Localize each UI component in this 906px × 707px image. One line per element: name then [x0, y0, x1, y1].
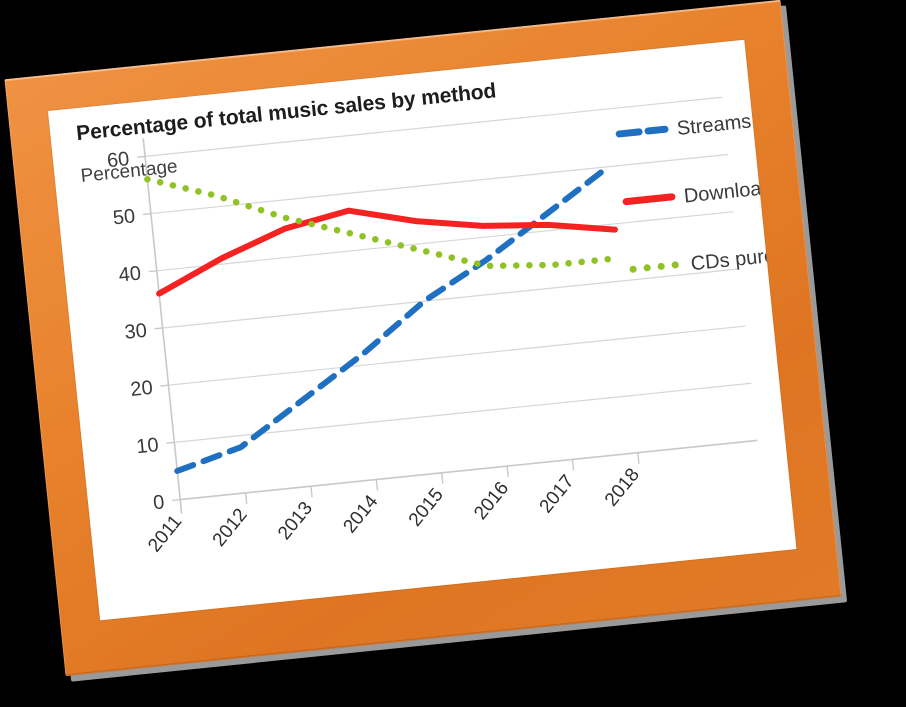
line-chart-svg: 0102030405060 20112012201320142015201620… [48, 40, 797, 621]
y-tick-label: 60 [106, 148, 130, 172]
y-tick-mark [172, 500, 180, 501]
gridline [145, 97, 722, 156]
legend-label-cds-purchased: CDs purchased [690, 239, 797, 275]
gridline [168, 326, 745, 385]
y-tick-label: 30 [124, 320, 148, 344]
x-tick-mark [376, 479, 377, 490]
series-line-streams [151, 167, 635, 471]
chart-surface: Percentage of total music sales by metho… [48, 40, 797, 621]
x-axis-line [180, 440, 757, 499]
legend-swatch-downloads [626, 197, 672, 202]
y-tick-mark [161, 385, 169, 386]
legend-swatch-streams [619, 129, 665, 134]
x-tick-label: 2016 [470, 478, 513, 524]
y-tick-label: 10 [135, 434, 159, 458]
y-tick-mark [137, 156, 145, 157]
image-canvas: Percentage of total music sales by metho… [0, 0, 906, 707]
legend-label-streams: Streams [676, 110, 752, 139]
y-tick-mark [166, 442, 174, 443]
y-tick-mark [155, 328, 163, 329]
y-tick-mark [143, 214, 151, 215]
y-tick-label: 20 [129, 377, 153, 401]
legend-label-downloads: Downloads [683, 176, 784, 208]
y-tick-labels-group: 0102030405060 [106, 148, 166, 515]
x-tick-label: 2011 [144, 511, 186, 556]
x-tick-label: 2015 [405, 485, 448, 531]
plot-area: 0102030405060 20112012201320142015201620… [48, 40, 797, 621]
x-tick-mark [311, 486, 312, 497]
x-tick-mark [638, 453, 639, 464]
y-tick-label: 0 [152, 491, 165, 514]
x-tick-mark [246, 493, 247, 504]
y-tick-label: 40 [118, 262, 142, 286]
gridline [163, 269, 740, 328]
y-axis-line [143, 138, 181, 513]
x-tick-label: 2014 [339, 491, 382, 537]
y-tick-mark [149, 271, 157, 272]
x-tick-label: 2018 [601, 464, 644, 510]
x-tick-label: 2012 [209, 505, 252, 551]
x-tick-mark [442, 473, 443, 484]
x-tick-mark [572, 459, 573, 470]
framed-chart-picture: Percentage of total music sales by metho… [4, 0, 841, 676]
x-tick-mark [507, 466, 508, 477]
orange-picture-frame: Percentage of total music sales by metho… [4, 0, 841, 676]
x-tick-label: 2017 [536, 471, 579, 517]
gridlines-group [145, 97, 757, 499]
x-tick-label: 2013 [274, 498, 317, 544]
legend-group: StreamsDownloadsCDs purchased [618, 104, 796, 281]
legend-swatch-cds-purchased [633, 265, 679, 270]
y-tick-label: 50 [112, 205, 136, 229]
